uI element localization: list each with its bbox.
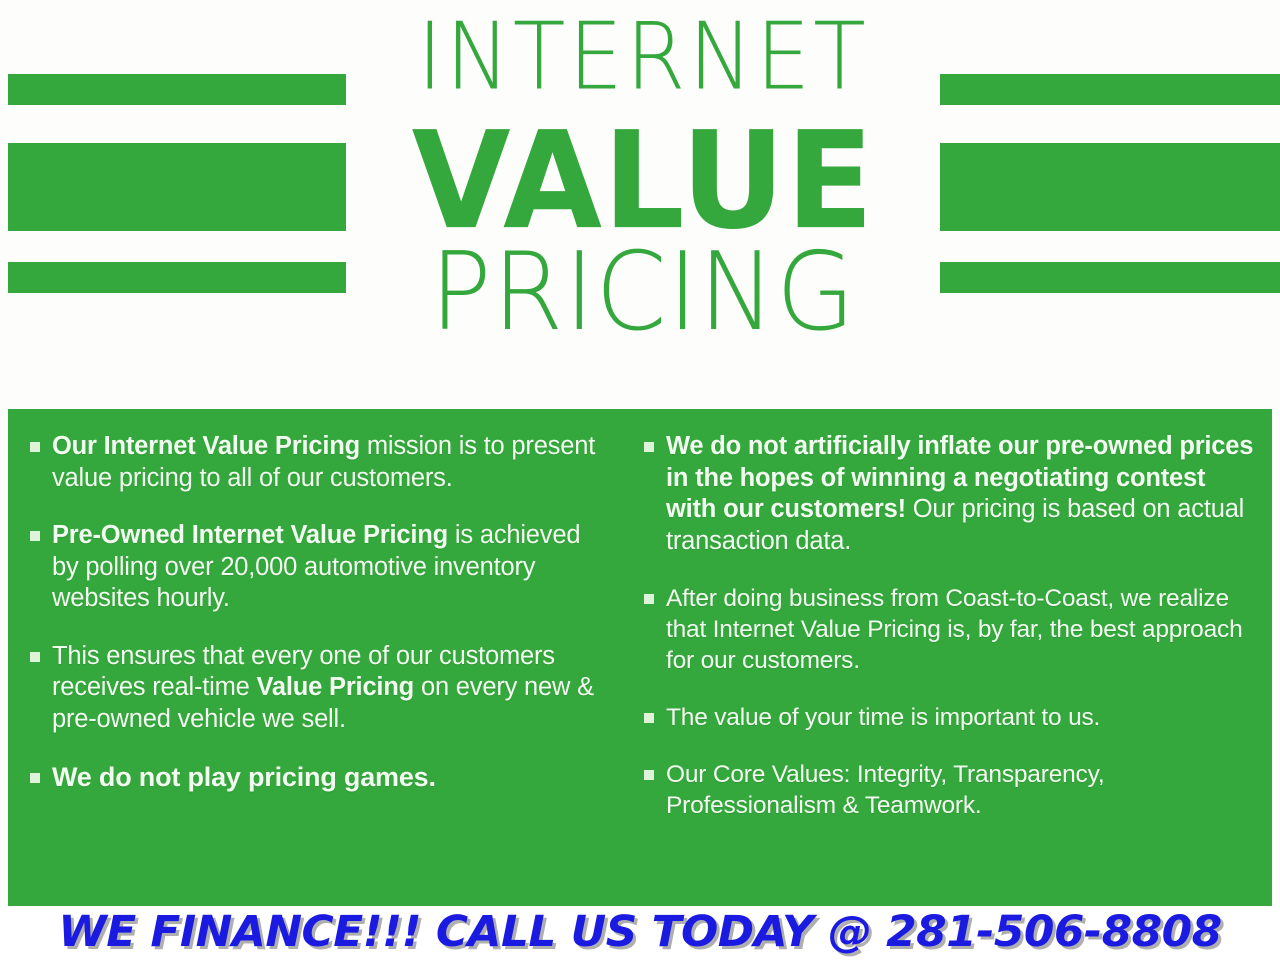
list-item: Our Internet Value Pricing mission is to… — [26, 431, 612, 494]
finance-banner: WE FINANCE!!! CALL US TODAY @ 281-506-88… — [0, 906, 1280, 960]
panel-column-right: We do not artificially inflate our pre-o… — [640, 431, 1254, 847]
logo-bar-right-top — [940, 74, 1280, 105]
list-item: After doing business from Coast-to-Coast… — [640, 583, 1254, 676]
logo-bar-right-bottom — [940, 262, 1280, 293]
bullet-bold-mid: Value Pricing — [257, 673, 415, 701]
logo-word-internet: INTERNET — [350, 11, 936, 104]
bullet-text: The value of your time is important to u… — [666, 704, 1100, 731]
list-item: Pre-Owned Internet Value Pricing is achi… — [26, 520, 612, 615]
bullet-bold-lead: Our Internet Value Pricing — [52, 432, 360, 460]
bullet-text: After doing business from Coast-to-Coast… — [666, 585, 1243, 674]
bullet-bold-all: We do not play pricing games. — [52, 762, 436, 792]
logo-bar-left-middle — [8, 143, 346, 231]
finance-banner-text: WE FINANCE!!! CALL US TODAY @ 281-506-88… — [0, 907, 1280, 957]
internet-value-pricing-poster: INTERNET VALUE PRICING Our Internet Valu… — [0, 0, 1280, 960]
logo-bar-left-bottom — [8, 262, 346, 293]
list-item: We do not artificially inflate our pre-o… — [640, 431, 1254, 557]
list-item: Our Core Values: Integrity, Transparency… — [640, 759, 1254, 821]
bullet-text: Our Core Values: Integrity, Transparency… — [666, 761, 1104, 819]
logo-word-pricing: PRICING — [350, 239, 936, 347]
logo-header: INTERNET VALUE PRICING — [0, 0, 1280, 406]
value-pricing-panel: Our Internet Value Pricing mission is to… — [8, 409, 1272, 906]
logo-wordmark: INTERNET VALUE PRICING — [350, 0, 936, 406]
list-item: The value of your time is important to u… — [640, 702, 1254, 733]
list-item: This ensures that every one of our custo… — [26, 641, 612, 736]
panel-column-left: Our Internet Value Pricing mission is to… — [26, 431, 612, 820]
bullet-bold-lead: Pre-Owned Internet Value Pricing — [52, 521, 448, 549]
logo-bar-right-middle — [940, 143, 1280, 231]
logo-bar-left-top — [8, 74, 346, 105]
list-item: We do not play pricing games. — [26, 761, 612, 794]
